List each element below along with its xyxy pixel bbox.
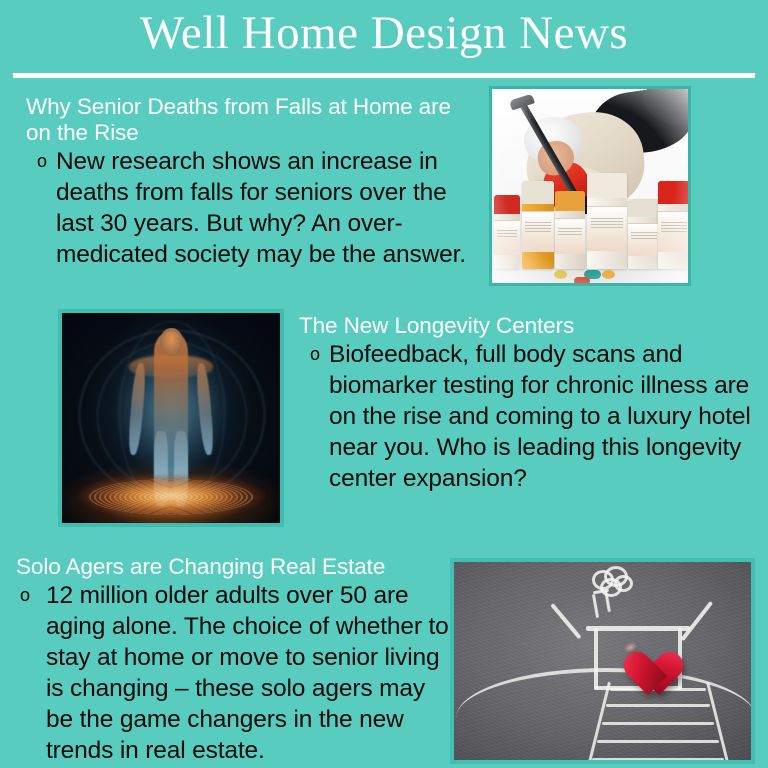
article-body: Biofeedback, full body scans and biomark… (329, 339, 759, 494)
article-solo-agers: Solo Agers are Changing Real Estate o 12… (16, 554, 456, 766)
bullet-marker-icon: o (16, 580, 46, 611)
senior-fall-medication-photo (489, 86, 691, 286)
article-longevity-centers: The New Longevity Centers o Biofeedback,… (299, 313, 759, 494)
masthead: Well Home Design News (0, 0, 768, 86)
article-bullet: o Biofeedback, full body scans and bioma… (299, 339, 759, 494)
article-headline: Solo Agers are Changing Real Estate (16, 554, 456, 580)
article-bullet: o New research shows an increase in deat… (26, 146, 476, 270)
photo-vignette (492, 89, 688, 283)
photo-backdrop (492, 89, 688, 283)
figure-head (160, 328, 183, 356)
article-senior-falls: Why Senior Deaths from Falls at Home are… (26, 94, 476, 270)
disc-rings (88, 479, 254, 515)
article-headline: The New Longevity Centers (299, 313, 759, 339)
page-title: Well Home Design News (0, 2, 768, 64)
photo-backdrop (454, 562, 751, 760)
article-body: 12 million older adults over 50 are agin… (46, 580, 456, 766)
chalk-house-heart-photo (450, 558, 755, 764)
human-energy-aura-photo (58, 309, 284, 527)
masthead-divider (13, 73, 755, 78)
bullet-marker-icon: o (26, 146, 56, 177)
article-body: New research shows an increase in deaths… (56, 146, 476, 270)
newsletter-page: Well Home Design News Why Senior Deaths … (0, 0, 768, 768)
heart-highlight (623, 641, 639, 655)
red-heart-icon (614, 634, 666, 682)
article-bullet: o 12 million older adults over 50 are ag… (16, 580, 456, 766)
smoke-puff-icon (614, 575, 633, 592)
bullet-marker-icon: o (299, 339, 329, 370)
house-eave (586, 626, 690, 631)
photo-backdrop (62, 313, 280, 523)
article-headline: Why Senior Deaths from Falls at Home are… (26, 94, 466, 146)
chalk-path (602, 682, 732, 764)
